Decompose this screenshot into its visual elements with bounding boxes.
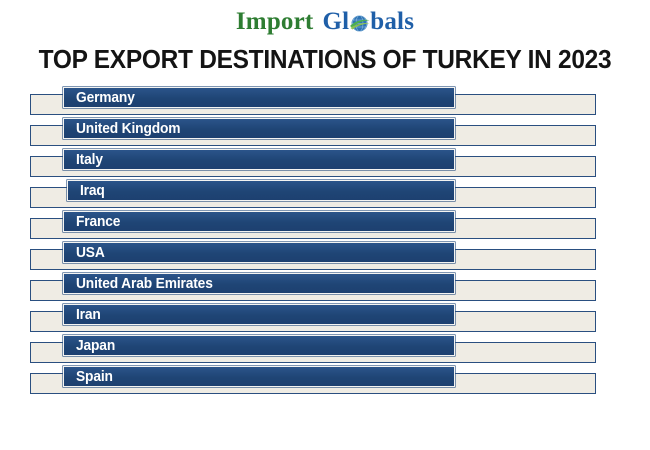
bar[interactable]: United Arab Emirates [63,273,455,294]
bar[interactable]: Japan [63,335,455,356]
logo-text-gl: Gl [322,9,349,34]
logo-header: Import Gl bals [0,0,650,38]
logo-text-import: Import [236,9,314,34]
page-title: TOP EXPORT DESTINATIONS OF TURKEY IN 202… [13,46,637,75]
table-row: Italy [0,148,650,179]
bar[interactable]: USA [63,242,455,263]
bar-chart: Germany United Kingdom Italy Iraq France… [0,86,650,404]
bar-label: Spain [76,369,113,385]
bar[interactable]: Germany [63,87,455,108]
bar[interactable]: France [63,211,455,232]
bar-label: Iraq [80,183,105,199]
table-row: Iraq [0,179,650,210]
bar-label: France [76,214,120,230]
logo-text-bals: bals [370,9,414,34]
bar-label: USA [76,245,105,261]
globe-icon [349,13,370,34]
bar-label: Japan [76,338,115,354]
bar[interactable]: United Kingdom [63,118,455,139]
table-row: Germany [0,86,650,117]
table-row: United Arab Emirates [0,272,650,303]
table-row: Spain [0,365,650,396]
table-row: France [0,210,650,241]
bar-label: United Arab Emirates [76,276,213,292]
bar[interactable]: Spain [63,366,455,387]
bar[interactable]: Iran [63,304,455,325]
table-row: USA [0,241,650,272]
bar[interactable]: Italy [63,149,455,170]
bar-label: Iran [76,307,101,323]
table-row: Japan [0,334,650,365]
bar[interactable]: Iraq [67,180,455,201]
table-row: United Kingdom [0,117,650,148]
brand-logo[interactable]: Import Gl bals [236,9,414,34]
bar-label: United Kingdom [76,121,180,137]
table-row: Iran [0,303,650,334]
bar-label: Germany [76,90,135,106]
bar-label: Italy [76,152,103,168]
